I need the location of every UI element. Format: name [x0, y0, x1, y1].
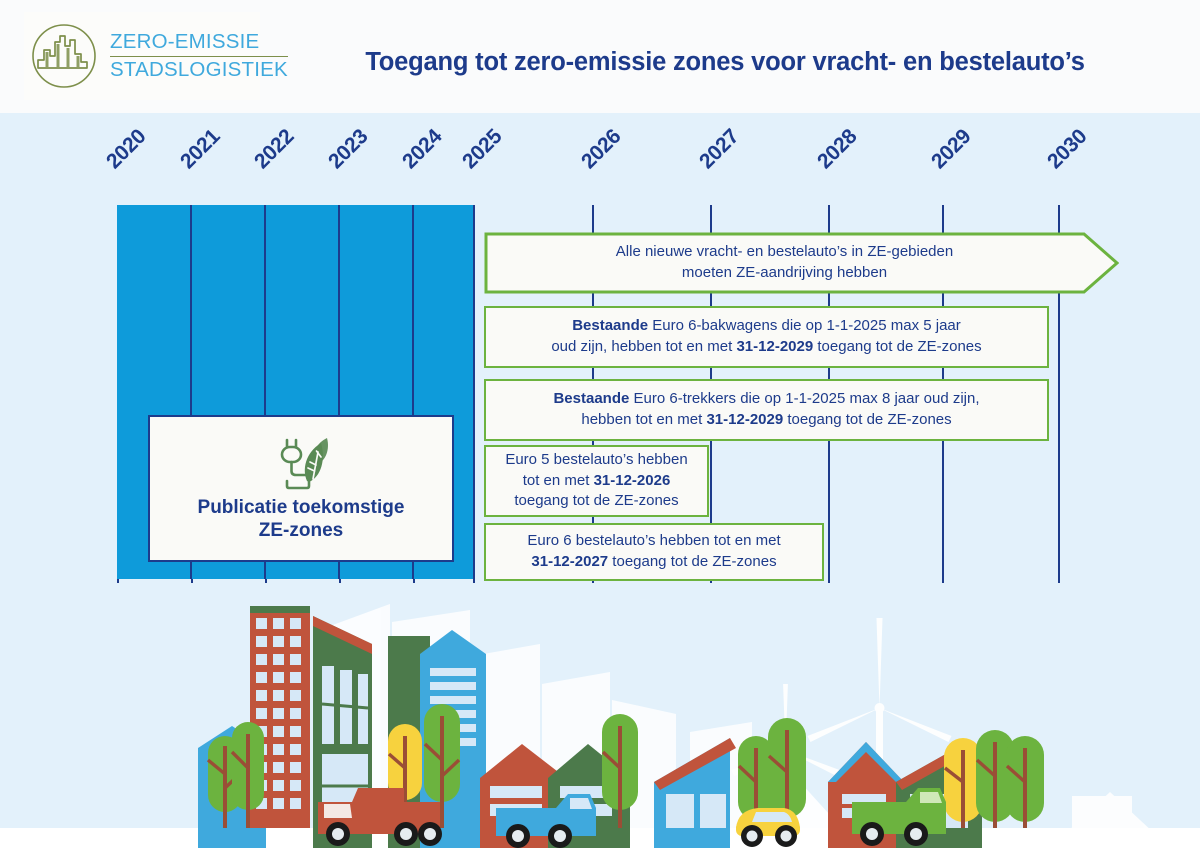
year-label-2021: 2021: [176, 125, 225, 174]
year-label-2026: 2026: [577, 125, 626, 174]
measure4-line2-bold: 31-12-2026: [594, 472, 671, 489]
plug-leaf-icon: [269, 435, 333, 493]
cityscape-illustration: [0, 596, 1200, 848]
year-label-2028: 2028: [813, 125, 862, 174]
year-label-2027: 2027: [695, 125, 744, 174]
measure2-line2-post: toegang tot de ZE-zones: [813, 338, 981, 355]
measure-new-vehicles-ze-text: Alle nieuwe vracht- en bestelauto’s in Z…: [484, 242, 1119, 283]
logo: ZERO-EMISSIE STADSLOGISTIEK: [24, 12, 260, 100]
measure-euro5-bestelautos: Euro 5 bestelauto’s hebben tot en met 31…: [484, 445, 709, 517]
measure-new-vehicles-ze: Alle nieuwe vracht- en bestelauto’s in Z…: [484, 232, 1119, 294]
year-tick-2025: [473, 205, 475, 583]
timeline: 2020 2021 2022 2023 2024 2025 2026 2027 …: [0, 113, 1200, 603]
measure2-line2-bold: 31-12-2029: [736, 338, 813, 355]
logo-line-2: STADSLOGISTIEK: [110, 57, 288, 81]
measure2-line2-pre: oud zijn, hebben tot en met: [551, 338, 736, 355]
measure-line-2: moeten ZE-aandrijving hebben: [682, 264, 887, 281]
year-label-2023: 2023: [324, 125, 373, 174]
year-label-2024: 2024: [398, 125, 447, 174]
tree: [1006, 736, 1044, 828]
year-label-2020: 2020: [102, 125, 151, 174]
measure3-bold-prefix: Bestaande: [553, 390, 629, 407]
measure-euro5-bestelautos-text: Euro 5 bestelauto’s hebben tot en met 31…: [505, 450, 687, 512]
measure-euro6-trekkers: Bestaande Euro 6-trekkers die op 1-1-202…: [484, 379, 1049, 441]
measure3-line1-rest: Euro 6-trekkers die op 1-1-2025 max 8 ja…: [629, 390, 979, 407]
logo-wordmark: ZERO-EMISSIE STADSLOGISTIEK: [110, 32, 288, 80]
measure-euro6-bakwagens: Bestaande Euro 6-bakwagens die op 1-1-20…: [484, 306, 1049, 368]
measure-euro6-trekkers-text: Bestaande Euro 6-trekkers die op 1-1-202…: [553, 389, 979, 430]
publication-label: Publicatie toekomstige ZE-zones: [198, 497, 405, 542]
measure4-line3: toegang tot de ZE-zones: [514, 492, 678, 509]
year-label-2022: 2022: [250, 125, 299, 174]
year-label-2025: 2025: [458, 125, 507, 174]
infographic-page: ZERO-EMISSIE STADSLOGISTIEK Toegang tot …: [0, 0, 1200, 848]
measure4-line2-pre: tot en met: [523, 472, 594, 489]
measure3-line2-pre: hebben tot en met: [581, 411, 706, 428]
measure5-line2-post: toegang tot de ZE-zones: [608, 553, 776, 570]
measure3-line2-bold: 31-12-2029: [706, 411, 783, 428]
logo-line-1: ZERO-EMISSIE: [110, 32, 288, 57]
city-skyline-circle-logo-icon: [24, 16, 104, 96]
measure4-line1: Euro 5 bestelauto’s hebben: [505, 451, 687, 468]
page-title: Toegang tot zero-emissie zones voor vrac…: [330, 48, 1120, 77]
measure-euro6-bestelautos: Euro 6 bestelauto’s hebben tot en met 31…: [484, 523, 824, 581]
year-label-2030: 2030: [1043, 125, 1092, 174]
measure-line-1: Alle nieuwe vracht- en bestelauto’s in Z…: [616, 243, 953, 260]
measure5-line1: Euro 6 bestelauto’s hebben tot en met: [527, 532, 780, 549]
measure-euro6-bestelautos-text: Euro 6 bestelauto’s hebben tot en met 31…: [527, 531, 780, 572]
measure-euro6-bakwagens-text: Bestaande Euro 6-bakwagens die op 1-1-20…: [551, 316, 981, 357]
measure5-line2-bold: 31-12-2027: [531, 553, 608, 570]
measure2-bold-prefix: Bestaande: [572, 317, 648, 334]
publication-card: Publicatie toekomstige ZE-zones: [148, 415, 454, 562]
header: ZERO-EMISSIE STADSLOGISTIEK Toegang tot …: [0, 0, 1200, 113]
measure3-line2-post: toegang tot de ZE-zones: [783, 411, 951, 428]
measure2-line1-rest: Euro 6-bakwagens die op 1-1-2025 max 5 j…: [648, 317, 961, 334]
year-label-2029: 2029: [927, 125, 976, 174]
